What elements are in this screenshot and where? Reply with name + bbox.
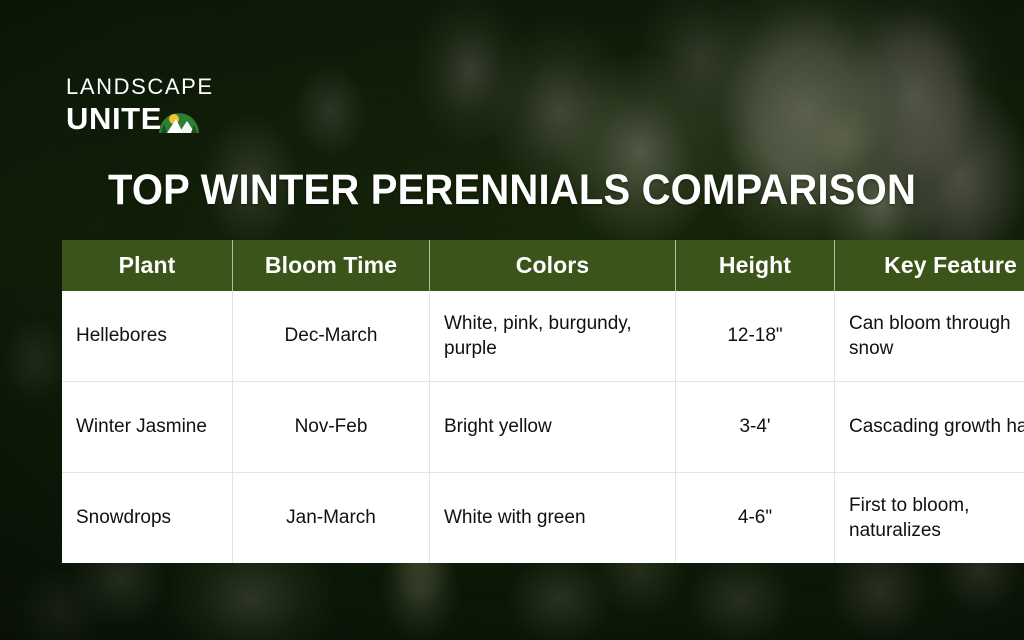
- brand-logo-row2: UNITE: [66, 103, 296, 134]
- cell-colors: Bright yellow: [430, 382, 676, 473]
- cell-height: 3-4': [676, 382, 835, 473]
- table-header-row: Plant Bloom Time Colors Height Key Featu…: [62, 240, 1024, 291]
- comparison-table-wrapper: Plant Bloom Time Colors Height Key Featu…: [62, 240, 962, 563]
- brand-logo-line2: UNITE: [66, 103, 162, 134]
- cell-plant: Hellebores: [62, 291, 233, 382]
- cell-bloom-time: Dec-March: [233, 291, 430, 382]
- table-row: Winter Jasmine Nov-Feb Bright yellow 3-4…: [62, 382, 1024, 473]
- column-header-bloom-time: Bloom Time: [233, 240, 430, 291]
- table-row: Snowdrops Jan-March White with green 4-6…: [62, 473, 1024, 564]
- cell-plant: Snowdrops: [62, 473, 233, 564]
- page-title: TOP WINTER PERENNIALS COMPARISON: [36, 166, 988, 215]
- column-header-plant: Plant: [62, 240, 233, 291]
- table-body: Hellebores Dec-March White, pink, burgun…: [62, 291, 1024, 563]
- cell-key-feature: Cascading growth habit: [835, 382, 1024, 473]
- cell-height: 12-18": [676, 291, 835, 382]
- cell-colors: White with green: [430, 473, 676, 564]
- cell-key-feature: First to bloom, naturalizes: [835, 473, 1024, 564]
- cell-bloom-time: Nov-Feb: [233, 382, 430, 473]
- table-header: Plant Bloom Time Colors Height Key Featu…: [62, 240, 1024, 291]
- mountain-sun-badge-icon: [159, 107, 199, 133]
- cell-height: 4-6": [676, 473, 835, 564]
- cell-bloom-time: Jan-March: [233, 473, 430, 564]
- table-row: Hellebores Dec-March White, pink, burgun…: [62, 291, 1024, 382]
- cell-colors: White, pink, burgundy, purple: [430, 291, 676, 382]
- brand-logo-line1: LANDSCAPE: [66, 76, 296, 98]
- cell-key-feature: Can bloom through snow: [835, 291, 1024, 382]
- column-header-height: Height: [676, 240, 835, 291]
- perennials-comparison-table: Plant Bloom Time Colors Height Key Featu…: [62, 240, 1024, 563]
- infographic-canvas: LANDSCAPE UNITE TOP WINTER PERENNIALS CO…: [0, 0, 1024, 640]
- brand-logo: LANDSCAPE UNITE: [66, 76, 296, 134]
- cell-plant: Winter Jasmine: [62, 382, 233, 473]
- column-header-colors: Colors: [430, 240, 676, 291]
- column-header-key-feature: Key Feature: [835, 240, 1024, 291]
